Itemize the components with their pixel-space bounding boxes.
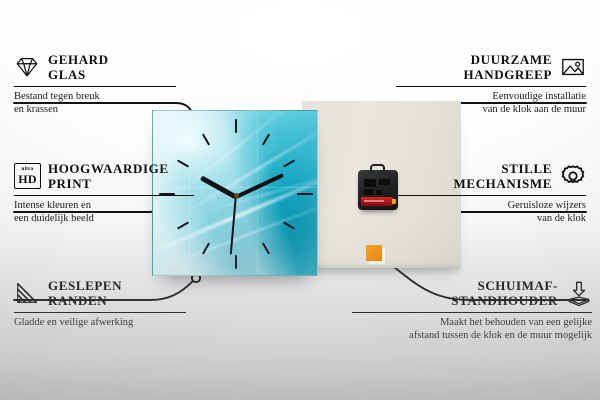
- mechanism-hanger: [370, 164, 385, 173]
- feature-desc-line2: van de klok aan de muur: [396, 104, 586, 117]
- feature-desc-line2: afstand tussen de klok en de muur mogeli…: [352, 330, 592, 343]
- feature-title-line1: GEHARD: [48, 52, 109, 67]
- foam-spacer-icon: [566, 280, 592, 306]
- mechanism-detail-3: [364, 189, 373, 195]
- clock-mechanism: [358, 170, 398, 210]
- foam-spacer: [366, 245, 382, 261]
- feature-title-line2: MECHANISME: [454, 176, 552, 191]
- feather-streak: [173, 116, 318, 220]
- picture-frame-icon: [560, 54, 586, 80]
- feature-title-line1: GESLEPEN: [48, 278, 122, 293]
- glass-reflection: [257, 111, 258, 275]
- gear-icon: [560, 163, 586, 189]
- clock-tick-12: [235, 119, 237, 133]
- feature-title-line2: STANDHOUDER: [451, 293, 558, 308]
- battery: [361, 197, 393, 206]
- feature-divider: [352, 312, 592, 313]
- ultra-hd-icon: ultra HD: [14, 163, 40, 189]
- clock-tick-5: [262, 242, 270, 254]
- diamond-icon: [14, 54, 40, 80]
- feature-title-line1: SCHUIMAF-: [451, 278, 558, 293]
- feature-desc-line2: een duidelijk beeld: [14, 213, 194, 226]
- feature-title-line2: GLAS: [48, 67, 109, 82]
- clock-tick-6: [235, 255, 237, 269]
- mechanism-detail-1: [364, 179, 376, 187]
- mechanism-detail-4: [376, 190, 382, 195]
- feature-desc-line1: Intense kleuren en: [14, 200, 194, 213]
- clock-center-cap: [234, 193, 239, 198]
- clock-tick-4: [283, 221, 295, 229]
- feature-duurzame-handgreep[interactable]: DUURZAME HANDGREEP Eenvoudige installati…: [396, 52, 586, 116]
- beveled-edges-icon: [14, 280, 40, 306]
- feature-stille-mechanisme[interactable]: STILLE MECHANISME Geruisloze wijzers van…: [396, 161, 586, 225]
- mechanism-detail-2: [379, 179, 390, 185]
- feature-title-line2: PRINT: [48, 176, 169, 191]
- feature-divider: [14, 86, 176, 87]
- feature-desc-line2: van de klok: [396, 213, 586, 226]
- ultra-hd-icon-large-text: HD: [18, 173, 37, 185]
- feature-title-line1: DUURZAME: [464, 52, 552, 67]
- feature-desc-line1: Maakt het behouden van een gelijke: [352, 317, 592, 330]
- clock-tick-11: [202, 133, 210, 145]
- feature-gehard-glas[interactable]: GEHARD GLAS Bestand tegen breuk en krass…: [14, 52, 176, 116]
- feature-title-line1: HOOGWAARDIGE: [48, 161, 169, 176]
- clock-tick-3: [297, 193, 313, 195]
- feature-desc-line1: Geruisloze wijzers: [396, 200, 586, 213]
- feature-divider: [396, 195, 586, 196]
- feature-title-line1: STILLE: [454, 161, 552, 176]
- feature-desc-line1: Bestand tegen breuk: [14, 91, 176, 104]
- feature-title-line2: RANDEN: [48, 293, 122, 308]
- clock-tick-2: [283, 159, 295, 167]
- feature-hoogwaardige-print[interactable]: ultra HD HOOGWAARDIGE PRINT Intense kleu…: [14, 161, 194, 225]
- feature-desc-line1: Gladde en veilige afwerking: [14, 317, 186, 330]
- feature-desc-line2: en krassen: [14, 104, 176, 117]
- clock-tick-1: [262, 133, 270, 145]
- feature-geslepen-randen[interactable]: GESLEPEN RANDEN Gladde en veilige afwerk…: [14, 278, 186, 330]
- feature-desc-line1: Eenvoudige installatie: [396, 91, 586, 104]
- feature-divider: [14, 195, 194, 196]
- feature-title-line2: HANDGREEP: [464, 67, 552, 82]
- feature-divider: [14, 312, 186, 313]
- infographic-canvas: GEHARD GLAS Bestand tegen breuk en krass…: [0, 0, 600, 400]
- feature-schuimafstandhouder[interactable]: SCHUIMAF- STANDHOUDER Maakt het behouden…: [352, 278, 592, 342]
- feature-divider: [396, 86, 586, 87]
